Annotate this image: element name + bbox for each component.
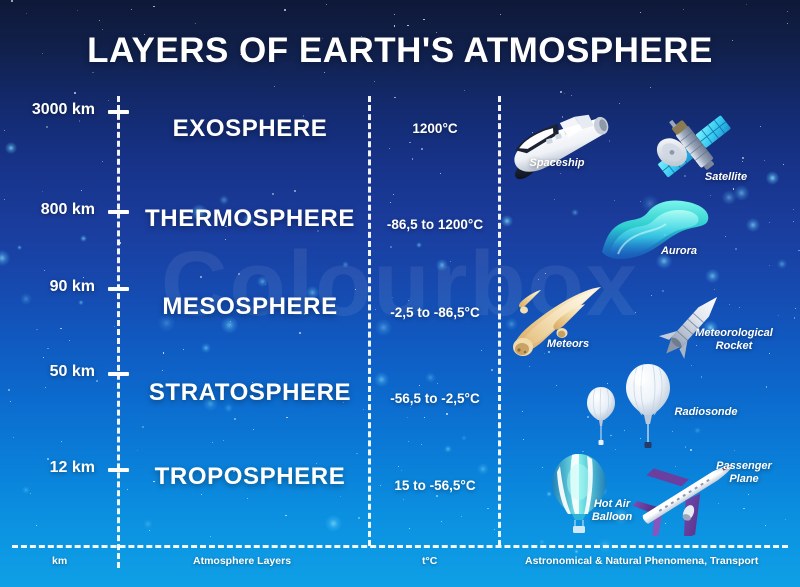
star <box>294 190 296 192</box>
star <box>450 261 451 262</box>
star <box>701 376 702 377</box>
star <box>8 389 10 391</box>
star <box>285 515 286 516</box>
meteors-icon <box>505 283 630 363</box>
star <box>409 528 410 529</box>
star-glow <box>342 261 349 268</box>
axis-altitude-label: 90 km <box>0 278 95 296</box>
axis-tick <box>108 287 129 291</box>
star-glow <box>777 259 787 269</box>
star <box>61 441 62 442</box>
star-glow <box>436 259 448 271</box>
star <box>785 519 786 520</box>
star <box>746 4 747 5</box>
star <box>436 495 438 497</box>
axis-tick <box>108 110 129 114</box>
star <box>36 329 37 330</box>
star <box>326 4 327 5</box>
layer-temperature-thermosphere: -86,5 to 1200°C <box>370 217 500 232</box>
caption-spaceship: Spaceship <box>502 157 612 170</box>
star-glow <box>501 215 513 227</box>
star <box>253 429 254 430</box>
star-glow <box>257 276 269 288</box>
star <box>787 23 788 24</box>
star <box>92 72 93 73</box>
star <box>69 340 70 341</box>
axis-tick <box>108 210 129 214</box>
star <box>615 449 616 450</box>
star <box>238 273 240 275</box>
star <box>446 413 448 415</box>
star <box>77 10 78 11</box>
star <box>412 158 413 159</box>
star <box>43 357 44 358</box>
star <box>500 14 501 15</box>
star-glow <box>80 235 87 242</box>
star <box>619 103 620 104</box>
star <box>742 161 743 162</box>
star <box>523 439 524 440</box>
star <box>487 508 488 509</box>
layer-name-exosphere: EXOSPHERE <box>130 115 370 143</box>
axis-altitude-label: 12 km <box>0 459 95 477</box>
star <box>725 236 726 237</box>
star <box>114 326 115 327</box>
star <box>748 494 749 495</box>
star <box>286 417 287 418</box>
star <box>47 348 48 349</box>
star <box>685 447 686 448</box>
footer-column-label: t°C <box>422 555 437 567</box>
star <box>79 120 80 121</box>
caption-satellite: Satellite <box>671 171 781 184</box>
star <box>223 440 224 441</box>
star-glow <box>374 372 389 387</box>
star-glow <box>722 190 737 205</box>
star <box>440 173 441 174</box>
star <box>742 157 744 159</box>
star <box>81 190 82 191</box>
caption-rocket: Meteorological Rocket <box>679 327 789 353</box>
star <box>374 81 375 82</box>
star <box>538 279 539 280</box>
star <box>403 499 404 500</box>
star-glow <box>444 445 452 453</box>
star-glow <box>425 372 436 383</box>
star <box>394 14 395 15</box>
star <box>398 466 399 467</box>
caption-aurora: Aurora <box>624 245 734 258</box>
star <box>607 383 608 384</box>
star <box>635 312 636 313</box>
spaceship-icon <box>495 92 623 192</box>
star <box>760 126 761 127</box>
star-glow <box>694 427 701 434</box>
star <box>461 516 462 517</box>
star <box>685 446 686 447</box>
footer-divider <box>12 545 788 548</box>
star-glow <box>5 142 17 154</box>
star <box>564 93 565 94</box>
meteorological-rocket-icon <box>648 285 734 367</box>
star <box>481 350 482 351</box>
star <box>26 13 27 14</box>
star <box>46 126 48 128</box>
footer-column-label: Atmosphere Layers <box>193 555 291 567</box>
star <box>163 352 164 353</box>
star <box>13 437 14 438</box>
axis-tick <box>108 468 129 472</box>
caption-meteors: Meteors <box>513 338 623 351</box>
star-glow <box>325 515 342 532</box>
layer-name-mesosphere: MESOSPHERE <box>130 293 370 321</box>
star-glow <box>375 319 392 336</box>
star-glow <box>746 218 760 232</box>
star <box>419 385 420 386</box>
layer-temperature-troposphere: 15 to -56,5°C <box>370 478 500 493</box>
infographic-poster: Colourbox LAYERS OF EARTH'S ATMOSPHERE 3… <box>0 0 800 587</box>
star <box>571 95 572 96</box>
star <box>45 387 46 388</box>
star <box>390 246 392 248</box>
star <box>529 366 530 367</box>
star <box>265 284 266 285</box>
star <box>4 130 5 131</box>
star <box>358 517 360 519</box>
star <box>423 19 424 20</box>
star <box>127 489 128 490</box>
star <box>393 194 394 195</box>
star <box>410 407 411 408</box>
star <box>407 417 408 418</box>
star <box>212 442 213 443</box>
star <box>36 525 37 526</box>
page-title: LAYERS OF EARTH'S ATMOSPHERE <box>0 31 800 71</box>
star <box>225 239 226 240</box>
star <box>210 536 211 537</box>
star-glow <box>477 463 490 476</box>
layer-temperature-exosphere: 1200°C <box>370 121 500 136</box>
footer-column-label: Astronomical & Natural Phenomena, Transp… <box>525 555 758 567</box>
star <box>522 411 523 412</box>
star <box>195 23 196 24</box>
star-glow <box>0 250 10 266</box>
star <box>798 250 799 251</box>
star <box>421 444 422 445</box>
star <box>683 9 684 10</box>
star <box>794 317 795 318</box>
star <box>137 450 138 451</box>
star <box>437 383 438 384</box>
star-glow <box>17 245 22 250</box>
star <box>793 209 794 210</box>
star <box>324 72 325 73</box>
star <box>247 498 248 499</box>
star <box>60 328 61 329</box>
star <box>769 265 770 266</box>
star <box>795 308 796 309</box>
star <box>363 409 364 410</box>
star <box>284 9 285 10</box>
star <box>769 353 770 354</box>
axis-altitude-label: 800 km <box>0 201 95 219</box>
star <box>764 160 765 161</box>
star <box>424 417 425 418</box>
star <box>272 193 274 195</box>
star-glow <box>705 269 720 284</box>
star <box>356 453 357 454</box>
star <box>650 87 651 88</box>
footer-column-label: km <box>52 555 67 567</box>
star <box>10 401 11 402</box>
star <box>340 496 341 497</box>
star <box>142 426 144 428</box>
star-glow <box>574 549 579 554</box>
axis-tick <box>108 372 129 376</box>
star <box>491 369 493 371</box>
star <box>421 148 423 150</box>
star <box>560 91 562 93</box>
divider-altitude-axis <box>117 96 120 568</box>
star-glow <box>201 343 210 352</box>
star <box>201 494 202 495</box>
layer-name-troposphere: TROPOSPHERE <box>130 463 370 491</box>
star <box>408 441 409 442</box>
star <box>545 273 546 274</box>
star <box>131 9 132 10</box>
star <box>200 276 202 278</box>
axis-altitude-label: 3000 km <box>0 101 95 119</box>
star <box>96 380 98 382</box>
star <box>769 222 770 223</box>
star <box>42 191 43 192</box>
star <box>108 100 109 101</box>
star-glow <box>416 242 423 249</box>
star <box>778 315 779 316</box>
caption-radiosonde: Radiosonde <box>651 406 761 419</box>
star <box>640 12 641 13</box>
star <box>99 20 100 21</box>
radiosonde-balloon-small-icon <box>584 385 618 447</box>
star <box>74 92 76 94</box>
caption-hotair: Hot Air Balloon <box>557 498 667 524</box>
star <box>556 385 557 386</box>
star <box>299 332 301 334</box>
star <box>392 297 393 298</box>
layer-name-thermosphere: THERMOSPHERE <box>130 205 370 233</box>
star <box>766 386 767 387</box>
star <box>44 270 45 271</box>
star <box>183 349 184 350</box>
star <box>389 148 390 149</box>
star <box>783 164 784 165</box>
star <box>739 307 740 308</box>
star-glow <box>461 435 467 441</box>
star <box>542 467 543 468</box>
star <box>401 470 402 471</box>
star <box>735 248 737 250</box>
star <box>355 289 356 290</box>
star <box>394 25 395 26</box>
star <box>11 0 13 2</box>
layer-temperature-mesosphere: -2,5 to -86,5°C <box>370 305 500 320</box>
star <box>554 199 555 200</box>
axis-altitude-label: 50 km <box>0 363 95 381</box>
star <box>407 25 408 26</box>
star <box>441 521 442 522</box>
layer-temperature-stratosphere: -56,5 to -2,5°C <box>370 391 500 406</box>
star <box>153 6 154 7</box>
star-glow <box>219 195 230 206</box>
star <box>390 202 391 203</box>
star <box>234 418 236 420</box>
star <box>149 530 150 531</box>
star <box>394 97 395 98</box>
star <box>464 90 465 91</box>
star <box>787 11 788 12</box>
layer-name-stratosphere: STRATOSPHERE <box>130 379 370 407</box>
star-glow <box>78 300 84 306</box>
star <box>765 525 766 526</box>
star <box>408 300 409 301</box>
caption-plane: Passenger Plane <box>689 460 799 486</box>
star-glow <box>143 519 153 529</box>
star-glow <box>22 486 30 494</box>
star-glow <box>571 209 579 217</box>
star <box>30 493 31 494</box>
star <box>274 86 275 87</box>
star <box>162 370 163 371</box>
star <box>793 221 794 222</box>
star <box>409 142 410 143</box>
star <box>102 161 103 162</box>
star <box>494 529 495 530</box>
